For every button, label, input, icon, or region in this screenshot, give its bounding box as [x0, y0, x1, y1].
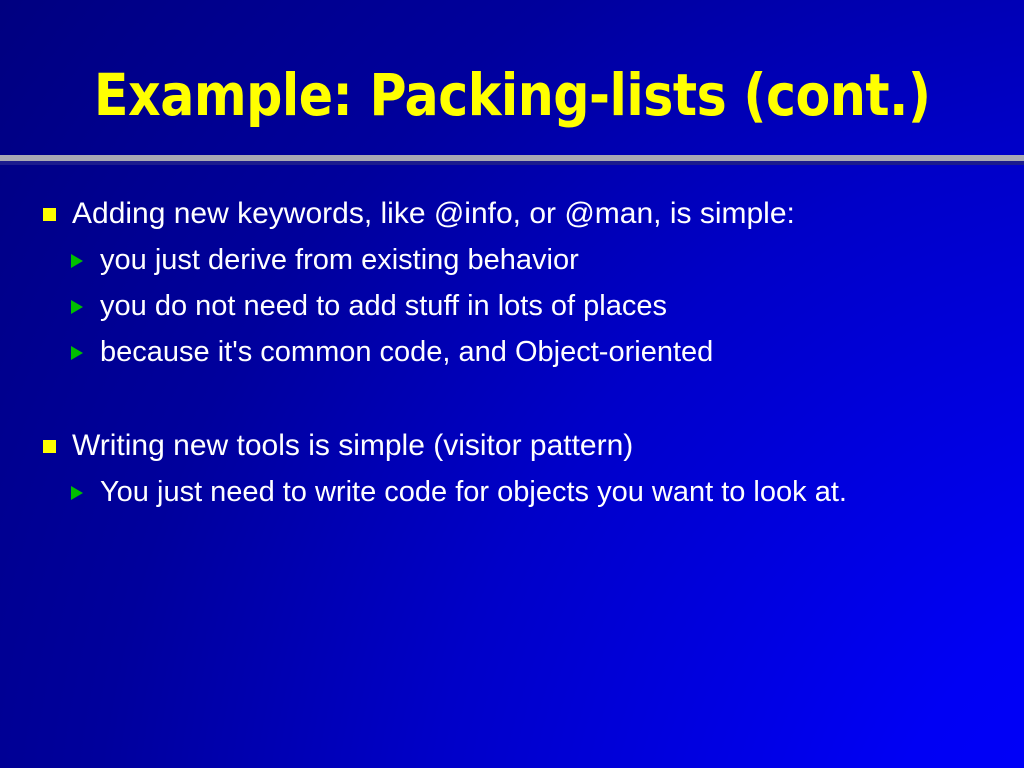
triangle-bullet-icon [71, 346, 83, 360]
bullet-text: because it's common code, and Object-ori… [100, 336, 713, 368]
slide-body: Adding new keywords, like @info, or @man… [0, 190, 1024, 750]
bullet-item-level2: You just need to write code for objects … [0, 469, 1024, 515]
square-bullet-icon [43, 208, 56, 221]
bullet-item-level1: Adding new keywords, like @info, or @man… [0, 190, 1024, 237]
triangle-bullet-icon [71, 486, 83, 500]
title-divider [0, 155, 1024, 165]
bullet-text: you just derive from existing behavior [100, 244, 579, 276]
bullet-item-level2: you just derive from existing behavior [0, 237, 1024, 283]
presentation-slide: Example: Packing-lists (cont.) Adding ne… [0, 0, 1024, 768]
divider-dark-bar [0, 161, 1024, 165]
bullet-spacer [0, 375, 1024, 422]
bullet-item-level2: you do not need to add stuff in lots of … [0, 283, 1024, 329]
bullet-text: Writing new tools is simple (visitor pat… [72, 429, 633, 462]
bullet-item-level2: because it's common code, and Object-ori… [0, 329, 1024, 375]
triangle-bullet-icon [71, 254, 83, 268]
bullet-item-level1: Writing new tools is simple (visitor pat… [0, 422, 1024, 469]
triangle-bullet-icon [71, 300, 83, 314]
square-bullet-icon [43, 440, 56, 453]
bullet-text: You just need to write code for objects … [70, 469, 1024, 515]
slide-title: Example: Packing-lists (cont.) [0, 66, 1024, 124]
bullet-text: you do not need to add stuff in lots of … [100, 290, 667, 322]
slide-title-text: Example: Packing-lists (cont.) [94, 66, 931, 124]
bullet-text: Adding new keywords, like @info, or @man… [72, 197, 795, 230]
